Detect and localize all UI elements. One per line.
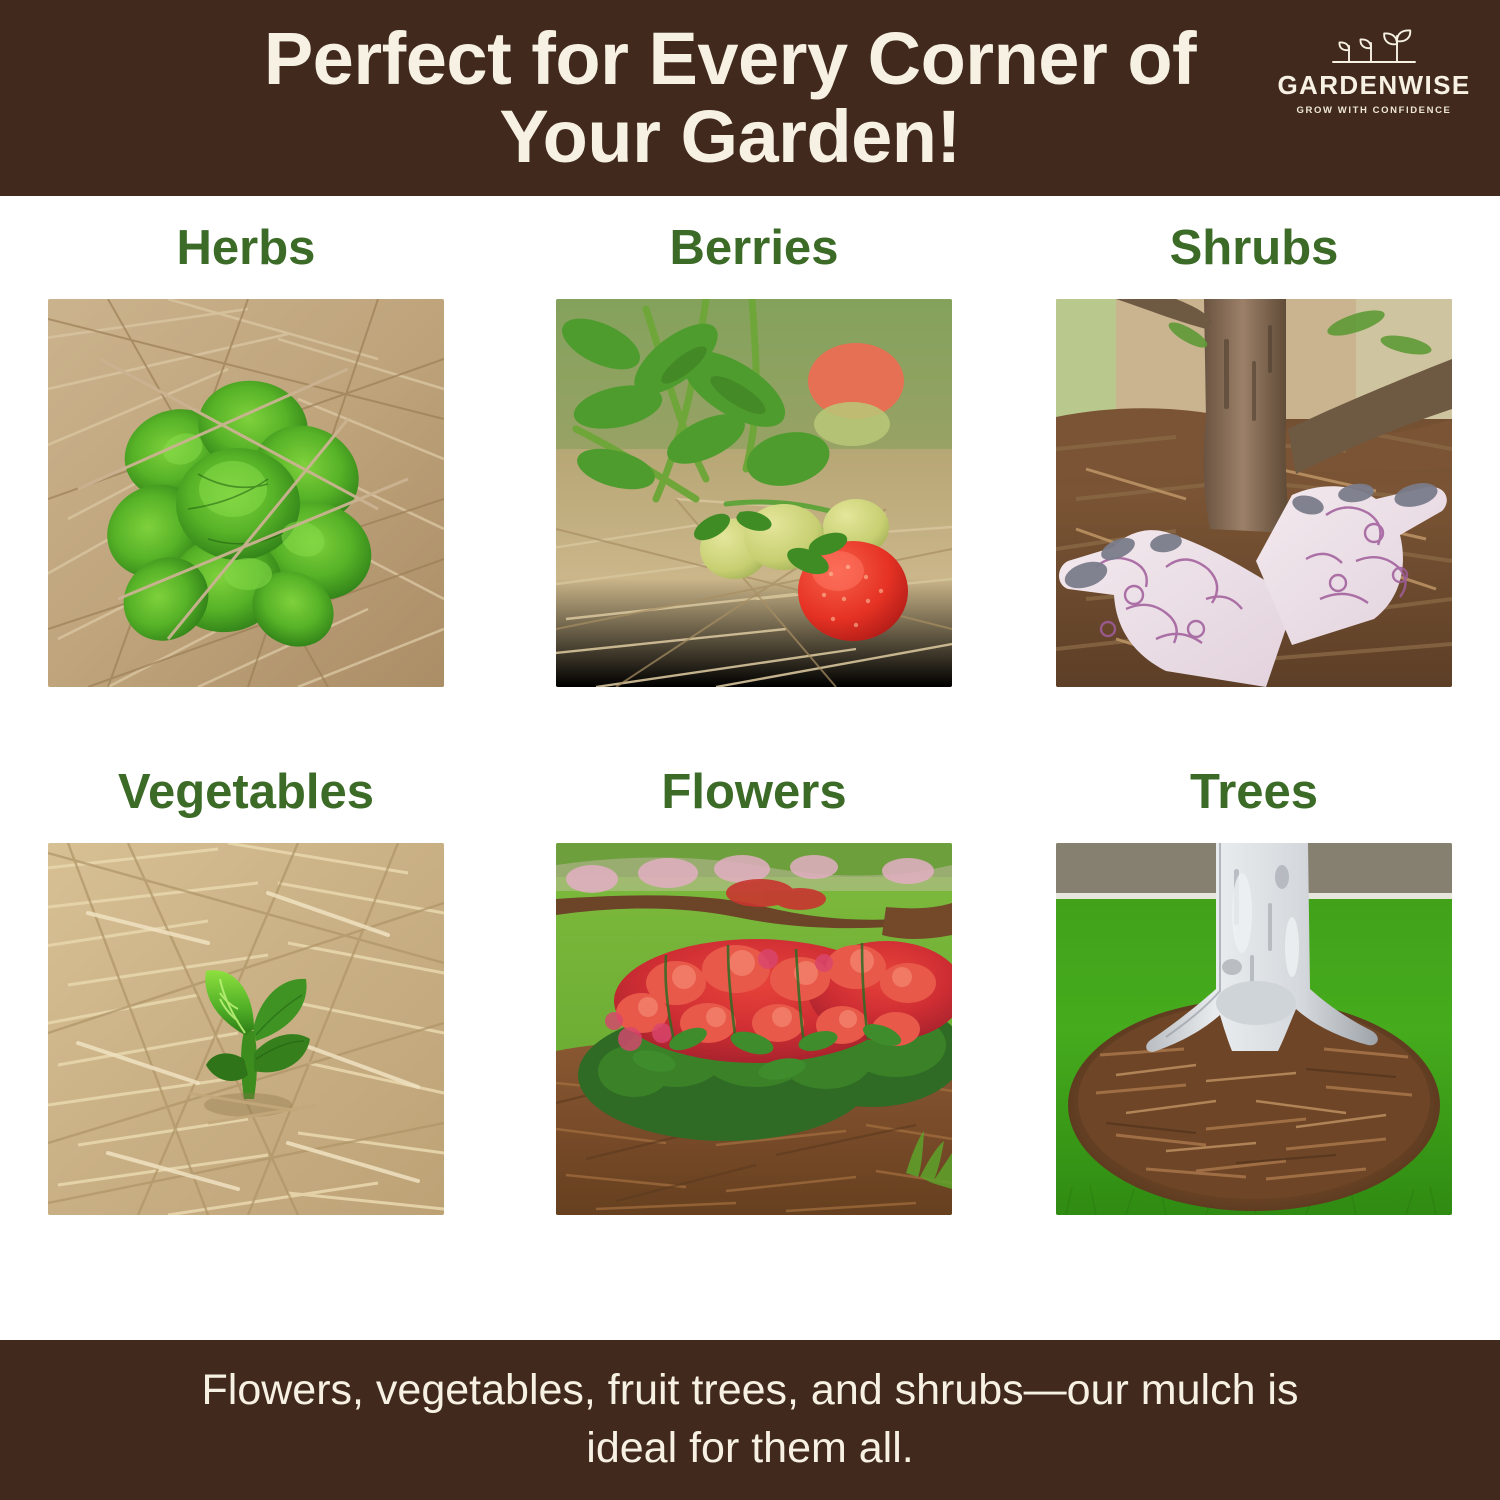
category-image-trees [1056, 843, 1452, 1215]
category-cell-flowers: Flowers [552, 768, 956, 1215]
category-cell-herbs: Herbs [44, 224, 448, 687]
sprout-seedlings-icon [1319, 26, 1429, 70]
category-label-shrubs: Shrubs [1052, 224, 1456, 273]
page-title: Perfect for Every Corner of Your Garden! [264, 20, 1196, 177]
category-grid: Herbs [0, 196, 1500, 1340]
category-cell-shrubs: Shrubs [1052, 224, 1456, 687]
category-image-flowers [556, 843, 952, 1215]
footer-tagline: Flowers, vegetables, fruit trees, and sh… [202, 1362, 1299, 1477]
promo-infographic: Perfect for Every Corner of Your Garden!… [0, 0, 1500, 1500]
category-cell-berries: Berries [552, 224, 956, 687]
footer-banner: Flowers, vegetables, fruit trees, and sh… [0, 1340, 1500, 1500]
page-title-line-1: Perfect for Every Corner of [264, 17, 1196, 100]
category-cell-vegetables: Vegetables [44, 768, 448, 1215]
category-label-berries: Berries [552, 224, 956, 273]
category-label-vegetables: Vegetables [44, 768, 448, 817]
footer-tagline-line-2: ideal for them all. [202, 1420, 1299, 1478]
brand-logo: GARDENWISE GROW WITH CONFIDENCE [1276, 26, 1472, 116]
logo-tagline: GROW WITH CONFIDENCE [1297, 105, 1452, 116]
category-image-herbs [48, 299, 444, 687]
footer-tagline-line-1: Flowers, vegetables, fruit trees, and sh… [202, 1366, 1299, 1414]
category-image-berries [556, 299, 952, 687]
category-image-shrubs [1056, 299, 1452, 687]
category-label-flowers: Flowers [552, 768, 956, 817]
category-label-herbs: Herbs [44, 224, 448, 273]
header-banner: Perfect for Every Corner of Your Garden!… [0, 0, 1500, 196]
category-image-vegetables [48, 843, 444, 1215]
category-label-trees: Trees [1052, 768, 1456, 817]
category-cell-trees: Trees [1052, 768, 1456, 1215]
page-title-line-2: Your Garden! [264, 98, 1196, 176]
logo-wordmark: GARDENWISE [1277, 72, 1470, 98]
